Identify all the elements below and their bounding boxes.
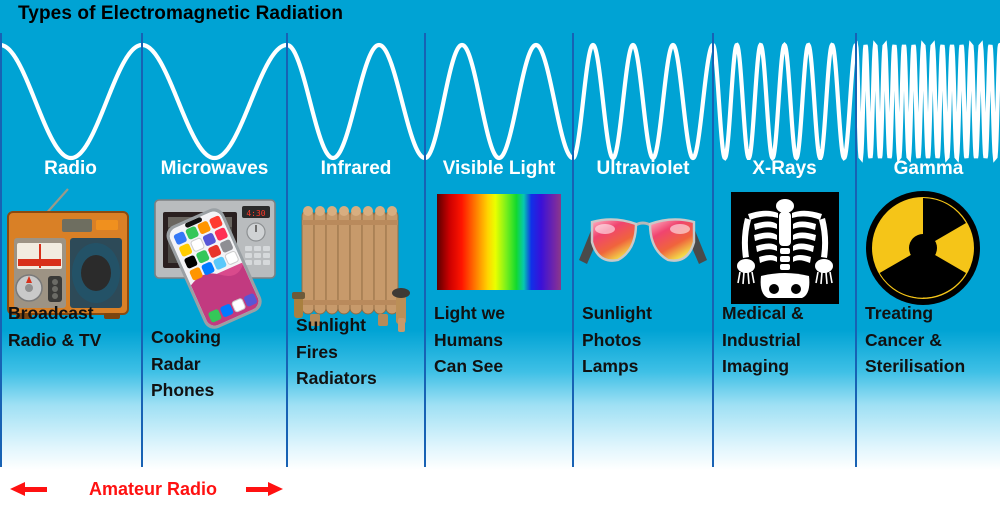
band-label-visible-light: Visible Light	[426, 158, 572, 180]
band-xrays: X-Rays	[714, 158, 855, 468]
band-label-gamma: Gamma	[857, 158, 1000, 180]
use-line: Medical &	[722, 300, 855, 327]
use-line: Sunlight	[296, 312, 424, 339]
band-label-ultraviolet: Ultraviolet	[574, 158, 712, 180]
use-line: Radio & TV	[8, 327, 141, 354]
band-uses-ultraviolet: Sunlight Photos Lamps	[574, 300, 712, 380]
band-label-microwaves: Microwaves	[143, 158, 286, 180]
band-microwaves: Microwaves 4:30	[143, 158, 286, 468]
wave-svg	[0, 33, 1000, 163]
page-title: Types of Electromagnetic Radiation	[18, 3, 343, 25]
use-line: Radar	[151, 351, 286, 378]
microwave-oven-and-smartphone-icon: 4:30	[143, 188, 286, 336]
band-uses-visible-light: Light we Humans Can See	[426, 300, 572, 380]
band-infrared: Infrared	[288, 158, 424, 468]
use-line: Sterilisation	[865, 353, 1000, 380]
band-uses-microwaves: Cooking Radar Phones	[143, 324, 286, 404]
use-line: Fires	[296, 339, 424, 366]
rainbow-gradient	[437, 194, 561, 290]
use-line: Broadcast	[8, 300, 141, 327]
band-uses-xrays: Medical & Industrial Imaging	[714, 300, 855, 380]
use-line: Phones	[151, 377, 286, 404]
band-label-radio: Radio	[0, 158, 141, 180]
amateur-radio-annotation: Amateur Radio	[8, 476, 298, 506]
right-arrow-icon	[268, 482, 283, 496]
use-line: Can See	[434, 353, 572, 380]
use-line: Treating	[865, 300, 1000, 327]
band-uses-gamma: Treating Cancer & Sterilisation	[857, 300, 1000, 380]
svg-text:4:30: 4:30	[246, 209, 265, 218]
electromagnetic-spectrum-poster: Types of Electromagnetic Radiation Radio	[0, 0, 1000, 517]
use-line: Lamps	[582, 353, 712, 380]
use-line: Cancer &	[865, 327, 1000, 354]
band-visible-light: Visible Light Light we Humans Can See	[426, 158, 572, 468]
wave-path	[0, 45, 1000, 158]
use-line: Light we	[434, 300, 572, 327]
band-radio: Radio	[0, 158, 141, 468]
band-ultraviolet: Ultraviolet	[574, 158, 712, 468]
use-line: Radiators	[296, 365, 424, 392]
band-uses-infrared: Sunlight Fires Radiators	[288, 312, 424, 392]
use-line: Humans	[434, 327, 572, 354]
band-uses-radio: Broadcast Radio & TV	[0, 300, 141, 353]
band-label-infrared: Infrared	[288, 158, 424, 180]
band-gamma: Gamma Treating Cancer & Sterilisation	[857, 158, 1000, 468]
use-line: Imaging	[722, 353, 855, 380]
use-line: Cooking	[151, 324, 286, 351]
use-line: Sunlight	[582, 300, 712, 327]
use-line: Photos	[582, 327, 712, 354]
use-line: Industrial	[722, 327, 855, 354]
electromagnetic-wave-graphic	[0, 33, 1000, 163]
band-label-xrays: X-Rays	[714, 158, 855, 180]
